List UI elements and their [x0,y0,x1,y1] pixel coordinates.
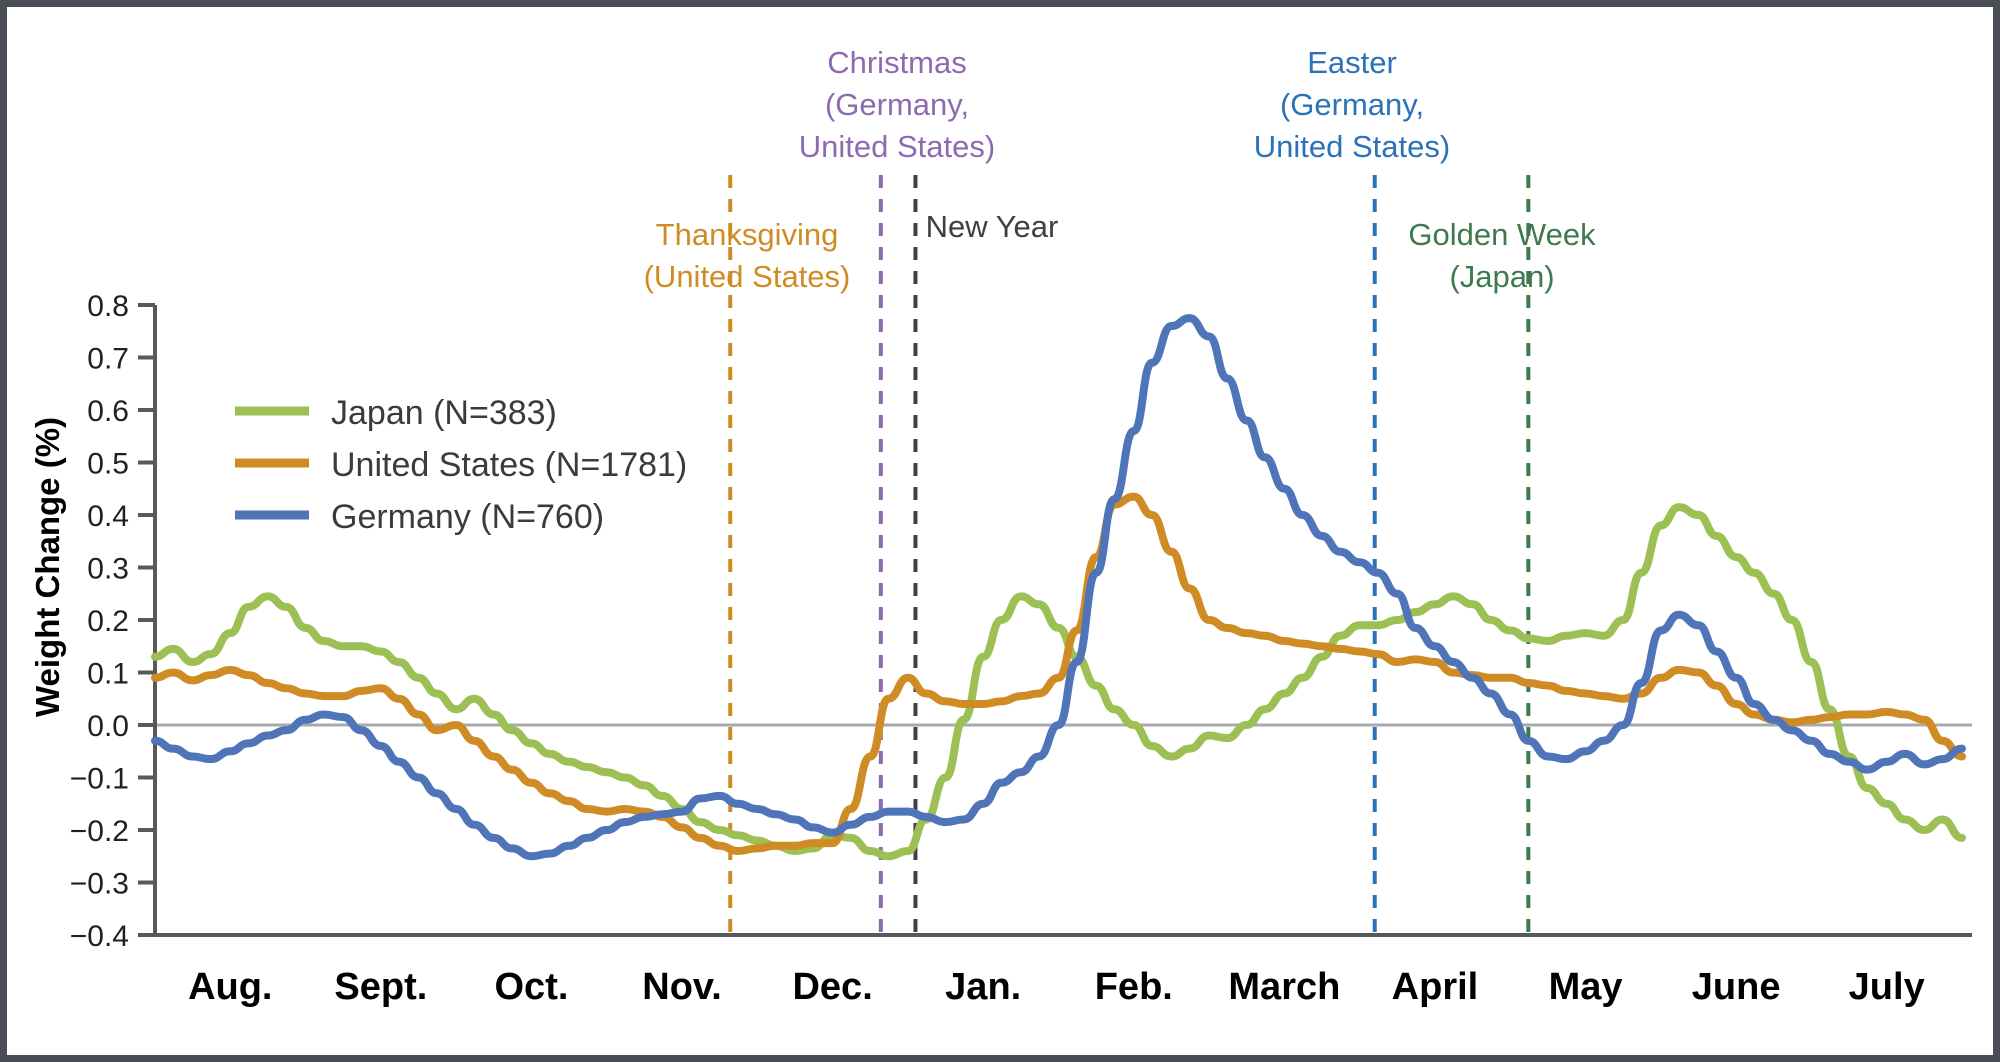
legend-layer: Japan (N=383)United States (N=1781)Germa… [235,394,687,536]
y-axis-layer: 0.80.70.60.50.40.30.20.10.0−0.1−0.2−0.3−… [70,290,155,953]
x-tick-label-6: Feb. [1095,966,1173,1008]
annotation-easter-line-2: United States) [1254,129,1450,164]
x-tick-label-8: April [1392,966,1479,1008]
annotation-christmas-line-1: (Germany, [825,87,969,122]
x-tick-label-0: Aug. [188,966,272,1008]
weight-change-line-chart: 0.80.70.60.50.40.30.20.10.0−0.1−0.2−0.3−… [7,7,1993,1055]
annotation-golden-week-line-1: (Japan) [1449,259,1554,294]
y-tick-label-12: −0.4 [70,920,129,953]
x-axis-layer: Aug.Sept.Oct.Nov.Dec.Jan.Feb.MarchAprilM… [155,935,1972,1008]
annotation-thanksgiving-line-1: (United States) [644,259,851,294]
x-tick-label-10: June [1692,966,1781,1008]
annotation-thanksgiving-line-0: Thanksgiving [656,217,839,252]
x-tick-label-9: May [1549,966,1623,1008]
x-tick-label-3: Nov. [642,966,722,1008]
x-tick-label-7: March [1228,966,1340,1008]
x-tick-label-4: Dec. [792,966,872,1008]
axis-title-layer: Weight Change (%) [29,417,66,717]
y-tick-label-2: 0.6 [87,395,129,428]
annotation-christmas-line-0: Christmas [827,45,967,80]
annotation-christmas-line-2: United States) [799,129,995,164]
legend-label-1: United States (N=1781) [331,446,687,484]
annotation-easter-line-0: Easter [1307,45,1397,80]
y-tick-label-1: 0.7 [87,343,129,376]
annotations-layer: Thanksgiving(United States)Christmas(Ger… [644,45,1597,294]
series-line-united-states [155,497,1962,851]
y-tick-label-10: −0.2 [70,815,129,848]
y-tick-label-4: 0.4 [87,500,129,533]
legend-label-0: Japan (N=383) [331,394,557,432]
legend-label-2: Germany (N=760) [331,498,604,536]
annotation-easter-line-1: (Germany, [1280,87,1424,122]
y-tick-label-6: 0.2 [87,605,129,638]
x-tick-label-11: July [1849,966,1925,1008]
x-tick-label-2: Oct. [495,966,569,1008]
y-tick-label-11: −0.3 [70,868,129,901]
y-tick-label-7: 0.1 [87,658,129,691]
y-tick-label-3: 0.5 [87,448,129,481]
annotation-golden-week-line-0: Golden Week [1408,217,1596,252]
y-tick-label-9: −0.1 [70,763,129,796]
y-tick-label-8: 0.0 [87,710,129,743]
x-tick-label-1: Sept. [334,966,427,1008]
y-axis-title: Weight Change (%) [29,417,66,717]
y-tick-label-5: 0.3 [87,553,129,586]
x-tick-label-5: Jan. [945,966,1021,1008]
annotation-new-year-line-0: New Year [926,209,1059,244]
y-tick-label-0: 0.8 [87,290,129,323]
chart-figure: 0.80.70.60.50.40.30.20.10.0−0.1−0.2−0.3−… [0,0,2000,1062]
